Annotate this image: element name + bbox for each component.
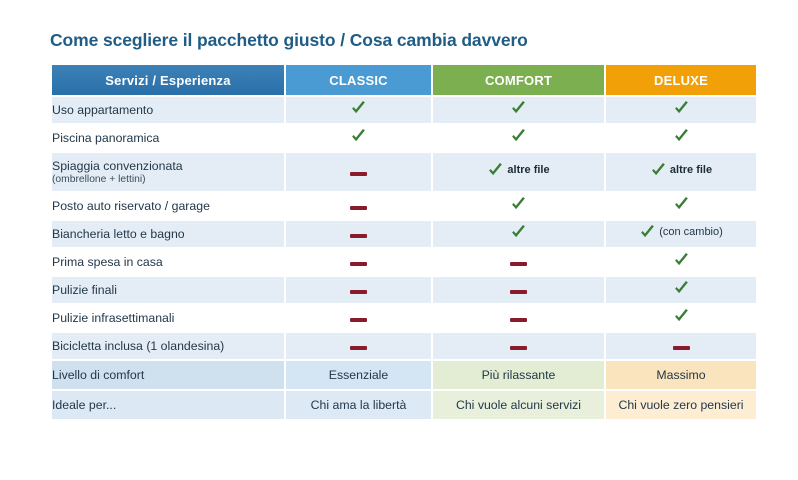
check-icon xyxy=(673,308,690,325)
cell-service-label: Biancheria letto e bagno xyxy=(52,221,284,247)
table-body: Uso appartamentoPiscina panoramicaSpiagg… xyxy=(52,97,756,419)
check-icon xyxy=(510,196,527,213)
value-glyph-group xyxy=(673,128,690,145)
dash-icon xyxy=(350,290,367,294)
value-glyph-group xyxy=(350,262,367,266)
value-glyph-group xyxy=(510,346,527,350)
value-glyph-group xyxy=(673,196,690,213)
cell-service-label: Prima spesa in casa xyxy=(52,249,284,275)
dash-icon xyxy=(510,262,527,266)
check-icon xyxy=(673,128,690,145)
cell-service-label: Piscina panoramica xyxy=(52,125,284,151)
cell-classic xyxy=(286,249,431,275)
cell-comfort xyxy=(433,277,604,303)
table-row: Uso appartamento xyxy=(52,97,756,123)
summary-deluxe: Massimo xyxy=(606,361,756,389)
value-glyph-group xyxy=(350,172,367,176)
service-label-text: Bicicletta inclusa (1 olandesina) xyxy=(52,339,224,353)
cell-classic xyxy=(286,221,431,247)
value-glyph-group xyxy=(350,318,367,322)
cell-service-label: Uso appartamento xyxy=(52,97,284,123)
column-header-classic: CLASSIC xyxy=(286,65,431,95)
cell-comfort xyxy=(433,249,604,275)
value-glyph-group xyxy=(673,346,690,350)
table-row: Piscina panoramica xyxy=(52,125,756,151)
service-sublabel-text: (ombrellone + lettini) xyxy=(52,174,284,186)
check-icon xyxy=(510,128,527,145)
service-label-text: Pulizie finali xyxy=(52,283,117,297)
cell-service-label: Posto auto riservato / garage xyxy=(52,193,284,219)
service-label-text: Pulizie infrasettimanali xyxy=(52,311,174,325)
check-icon xyxy=(510,100,527,117)
check-icon xyxy=(510,224,527,241)
cell-comfort xyxy=(433,221,604,247)
table-row: Spiaggia convenzionata(ombrellone + lett… xyxy=(52,153,756,191)
service-label-text: Spiaggia convenzionata xyxy=(52,159,183,173)
dash-icon xyxy=(350,318,367,322)
value-glyph-group xyxy=(673,308,690,325)
cell-comfort xyxy=(433,333,604,359)
cell-classic xyxy=(286,277,431,303)
cell-deluxe xyxy=(606,125,756,151)
table-row: Pulizie finali xyxy=(52,277,756,303)
check-icon xyxy=(673,252,690,269)
dash-icon xyxy=(510,290,527,294)
table-row: Posto auto riservato / garage xyxy=(52,193,756,219)
service-label-text: Uso appartamento xyxy=(52,103,153,117)
cell-note: altre file xyxy=(507,165,549,176)
cell-deluxe xyxy=(606,97,756,123)
cell-deluxe: altre file xyxy=(606,153,756,191)
service-label-text: Piscina panoramica xyxy=(52,131,159,145)
service-label-text: Biancheria letto e bagno xyxy=(52,227,185,241)
dash-icon xyxy=(350,346,367,350)
cell-classic xyxy=(286,97,431,123)
summary-comfort: Più rilassante xyxy=(433,361,604,389)
value-glyph-group xyxy=(510,290,527,294)
check-icon xyxy=(650,162,667,179)
page-title: Come scegliere il pacchetto giusto / Cos… xyxy=(50,30,750,51)
value-glyph-group xyxy=(350,234,367,238)
check-icon xyxy=(673,280,690,297)
cell-classic xyxy=(286,193,431,219)
dash-icon xyxy=(350,234,367,238)
summary-classic: Chi ama la libertà xyxy=(286,391,431,419)
dash-icon xyxy=(350,206,367,210)
column-header-deluxe: DELUXE xyxy=(606,65,756,95)
table-row: Prima spesa in casa xyxy=(52,249,756,275)
service-label-text: Posto auto riservato / garage xyxy=(52,199,210,213)
dash-icon xyxy=(350,262,367,266)
value-glyph-group xyxy=(673,100,690,117)
table-row: Pulizie infrasettimanali xyxy=(52,305,756,331)
value-glyph-group xyxy=(350,346,367,350)
cell-classic xyxy=(286,125,431,151)
value-glyph-group xyxy=(510,224,527,241)
table-header-row: Servizi / Esperienza CLASSIC COMFORT DEL… xyxy=(52,65,756,95)
column-header-comfort: COMFORT xyxy=(433,65,604,95)
value-glyph-group xyxy=(510,100,527,117)
service-label-text: Prima spesa in casa xyxy=(52,255,163,269)
value-glyph-group xyxy=(350,290,367,294)
cell-classic xyxy=(286,305,431,331)
cell-note: (con cambio) xyxy=(659,227,723,238)
value-glyph-group xyxy=(510,196,527,213)
cell-service-label: Pulizie finali xyxy=(52,277,284,303)
cell-deluxe: (con cambio) xyxy=(606,221,756,247)
summary-label: Ideale per... xyxy=(52,391,284,419)
cell-classic xyxy=(286,333,431,359)
cell-comfort xyxy=(433,305,604,331)
cell-comfort xyxy=(433,193,604,219)
summary-row: Livello di comfortEssenzialePiù rilassan… xyxy=(52,361,756,389)
cell-service-label: Spiaggia convenzionata(ombrellone + lett… xyxy=(52,153,284,191)
check-icon xyxy=(350,100,367,117)
dash-icon xyxy=(510,318,527,322)
table-row: Biancheria letto e bagno(con cambio) xyxy=(52,221,756,247)
value-glyph-group xyxy=(350,206,367,210)
summary-classic: Essenziale xyxy=(286,361,431,389)
value-glyph-group xyxy=(350,100,367,117)
dash-icon xyxy=(350,172,367,176)
value-glyph-group: altre file xyxy=(650,162,712,179)
table-row: Bicicletta inclusa (1 olandesina) xyxy=(52,333,756,359)
package-comparison-table: Servizi / Esperienza CLASSIC COMFORT DEL… xyxy=(50,63,758,421)
dash-icon xyxy=(510,346,527,350)
cell-comfort: altre file xyxy=(433,153,604,191)
summary-label: Livello di comfort xyxy=(52,361,284,389)
summary-comfort: Chi vuole alcuni servizi xyxy=(433,391,604,419)
cell-comfort xyxy=(433,125,604,151)
value-glyph-group: altre file xyxy=(487,162,549,179)
value-glyph-group: (con cambio) xyxy=(639,224,723,241)
summary-row: Ideale per...Chi ama la libertàChi vuole… xyxy=(52,391,756,419)
cell-note: altre file xyxy=(670,165,712,176)
check-icon xyxy=(487,162,504,179)
cell-service-label: Pulizie infrasettimanali xyxy=(52,305,284,331)
check-icon xyxy=(673,100,690,117)
dash-icon xyxy=(673,346,690,350)
check-icon xyxy=(673,196,690,213)
cell-comfort xyxy=(433,97,604,123)
comparison-table-page: Come scegliere il pacchetto giusto / Cos… xyxy=(0,0,798,480)
column-header-services: Servizi / Esperienza xyxy=(52,65,284,95)
cell-deluxe xyxy=(606,305,756,331)
value-glyph-group xyxy=(510,128,527,145)
check-icon xyxy=(639,224,656,241)
cell-classic xyxy=(286,153,431,191)
cell-deluxe xyxy=(606,249,756,275)
cell-deluxe xyxy=(606,193,756,219)
check-icon xyxy=(350,128,367,145)
cell-deluxe xyxy=(606,277,756,303)
summary-deluxe: Chi vuole zero pensieri xyxy=(606,391,756,419)
value-glyph-group xyxy=(510,262,527,266)
value-glyph-group xyxy=(673,252,690,269)
value-glyph-group xyxy=(350,128,367,145)
cell-service-label: Bicicletta inclusa (1 olandesina) xyxy=(52,333,284,359)
cell-deluxe xyxy=(606,333,756,359)
value-glyph-group xyxy=(510,318,527,322)
value-glyph-group xyxy=(673,280,690,297)
